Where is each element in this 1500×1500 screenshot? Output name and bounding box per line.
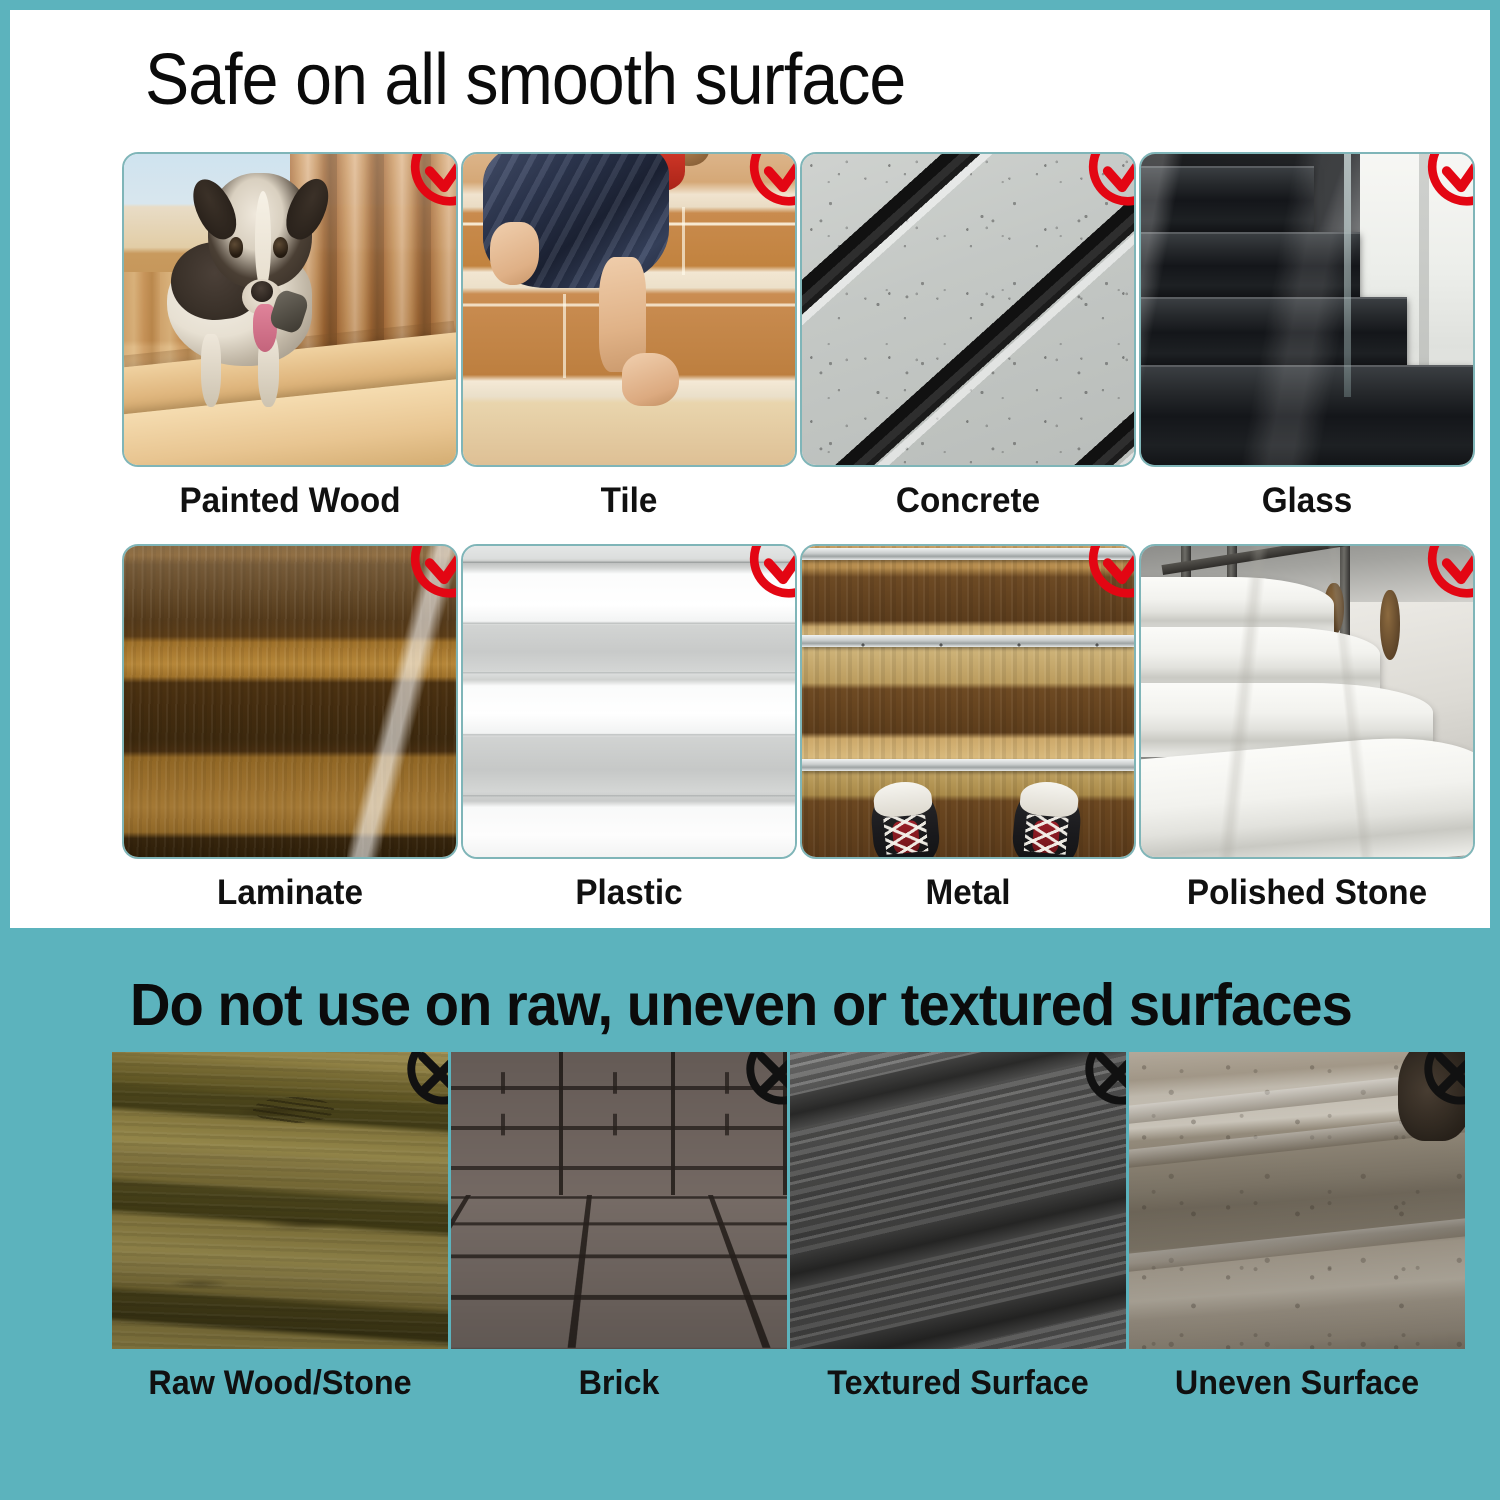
polished-stone-photo bbox=[1139, 544, 1475, 859]
surface-label: Concrete bbox=[808, 481, 1127, 521]
surface-label: Tile bbox=[469, 481, 788, 521]
surface-card-metal: Metal bbox=[800, 544, 1136, 913]
safe-surfaces-panel: Safe on all smooth surface bbox=[10, 10, 1490, 928]
shadow-overlay bbox=[112, 1052, 448, 1349]
surface-card-plastic: Plastic bbox=[461, 544, 797, 913]
sneaker-right bbox=[1011, 783, 1084, 859]
dog-front-leg-left bbox=[201, 334, 221, 408]
surface-label: Glass bbox=[1147, 481, 1466, 521]
surface-label: Painted Wood bbox=[130, 481, 449, 521]
sneaker-laces bbox=[883, 814, 929, 855]
glass-photo bbox=[1139, 152, 1475, 467]
laminate-photo bbox=[122, 544, 458, 859]
surface-label: Polished Stone bbox=[1147, 873, 1466, 913]
surface-card-uneven-surface: Uneven Surface bbox=[1129, 1052, 1465, 1403]
brick-photo bbox=[451, 1052, 787, 1349]
dog-illustration bbox=[167, 173, 353, 403]
surface-card-raw-wood-stone: Raw Wood/Stone bbox=[112, 1052, 448, 1403]
surface-card-tile: Tile bbox=[461, 152, 797, 521]
surface-label: Textured Surface bbox=[798, 1363, 1117, 1403]
surface-compatibility-infographic: Safe on all smooth surface bbox=[0, 0, 1500, 1500]
surface-label: Raw Wood/Stone bbox=[120, 1363, 439, 1403]
painted-wood-photo bbox=[122, 152, 458, 467]
surface-card-polished-stone: Polished Stone bbox=[1139, 544, 1475, 913]
surface-card-painted-wood: Painted Wood bbox=[122, 152, 458, 521]
avoid-surfaces-row-1: Raw Wood/Stone Brick bbox=[112, 1052, 1465, 1403]
concrete-photo bbox=[800, 152, 1136, 467]
surface-card-brick: Brick bbox=[451, 1052, 787, 1403]
brick-shading bbox=[451, 1052, 787, 1349]
surface-card-laminate: Laminate bbox=[122, 544, 458, 913]
plastic-seam-lines bbox=[463, 546, 795, 857]
avoid-surfaces-heading: Do not use on raw, uneven or textured su… bbox=[130, 970, 1352, 1040]
surface-card-glass: Glass bbox=[1139, 152, 1475, 521]
nosing-screws bbox=[802, 635, 1134, 647]
glass-reflection bbox=[1141, 154, 1473, 465]
surface-label: Plastic bbox=[469, 873, 788, 913]
sneaker-laces bbox=[1024, 814, 1070, 855]
safe-surfaces-heading: Safe on all smooth surface bbox=[145, 38, 905, 122]
dog-eye-left bbox=[229, 237, 244, 258]
metal-nosing-3 bbox=[802, 759, 1134, 771]
tile-seam-vertical-2 bbox=[563, 294, 566, 378]
toddler-foot-upper bbox=[490, 222, 540, 284]
sneaker-left bbox=[868, 783, 941, 859]
surface-card-textured-surface: Textured Surface bbox=[790, 1052, 1126, 1403]
metal-photo bbox=[800, 544, 1136, 859]
dog-eye-right bbox=[273, 237, 288, 258]
dog-nose bbox=[251, 281, 273, 302]
textured-surface-photo bbox=[790, 1052, 1126, 1349]
metal-nosing-1 bbox=[802, 548, 1134, 560]
tile-seam-vertical-1 bbox=[682, 207, 685, 275]
wood-grain-texture bbox=[802, 546, 1134, 857]
dog-face-blaze bbox=[255, 191, 272, 292]
toddler-foot-lower bbox=[622, 353, 678, 406]
surface-label: Uneven Surface bbox=[1137, 1363, 1456, 1403]
uneven-shading bbox=[1129, 1052, 1465, 1349]
textured-shading bbox=[790, 1052, 1126, 1349]
tile-photo bbox=[461, 152, 797, 467]
surface-label: Laminate bbox=[130, 873, 449, 913]
marble-step-1 bbox=[1139, 577, 1334, 633]
surface-card-concrete: Concrete bbox=[800, 152, 1136, 521]
uneven-surface-photo bbox=[1129, 1052, 1465, 1349]
raw-wood-photo bbox=[112, 1052, 448, 1349]
surface-label: Metal bbox=[808, 873, 1127, 913]
safe-surfaces-row-1: Painted Wood bbox=[122, 152, 1475, 521]
surface-label: Brick bbox=[459, 1363, 778, 1403]
safe-surfaces-row-2: Laminate Plastic bbox=[122, 544, 1475, 913]
plastic-photo bbox=[461, 544, 797, 859]
anti-slip-strips bbox=[800, 152, 1136, 467]
railing-ornament-2 bbox=[1380, 590, 1400, 660]
